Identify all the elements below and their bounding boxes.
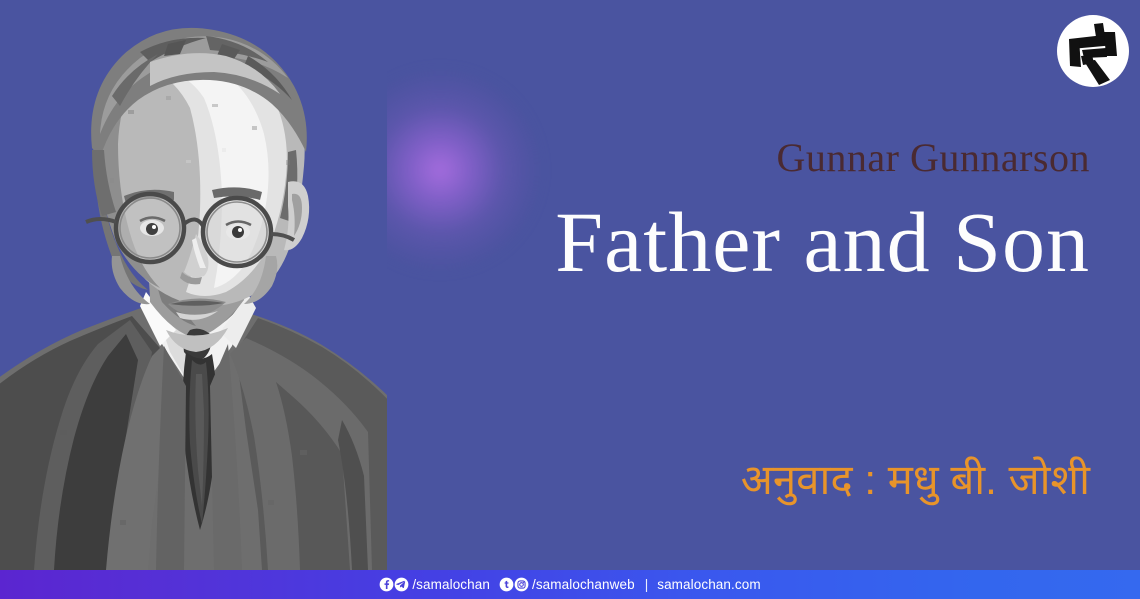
book-cover-poster: Gunnar Gunnarson Father and Son अनुवाद :… bbox=[0, 0, 1140, 599]
author-portrait bbox=[0, 0, 387, 570]
footer-website[interactable]: samalochan.com bbox=[657, 577, 760, 592]
book-title: Father and Son bbox=[400, 196, 1090, 289]
twitter-icon[interactable] bbox=[499, 577, 514, 592]
translator-credit: अनुवाद : मधु बी. जोशी bbox=[430, 455, 1090, 505]
instagram-icon[interactable] bbox=[514, 577, 529, 592]
footer-separator: | bbox=[645, 577, 649, 592]
facebook-icon[interactable] bbox=[379, 577, 394, 592]
telegram-icon[interactable] bbox=[394, 577, 409, 592]
footer-handle-secondary[interactable]: /samalochanweb bbox=[532, 577, 635, 592]
samalochan-logo[interactable] bbox=[1054, 12, 1132, 90]
footer-bar: /samalochan /samalochanweb | samalochan.… bbox=[0, 570, 1140, 599]
author-name: Gunnar Gunnarson bbox=[430, 137, 1090, 179]
footer-handle-primary[interactable]: /samalochan bbox=[412, 577, 490, 592]
